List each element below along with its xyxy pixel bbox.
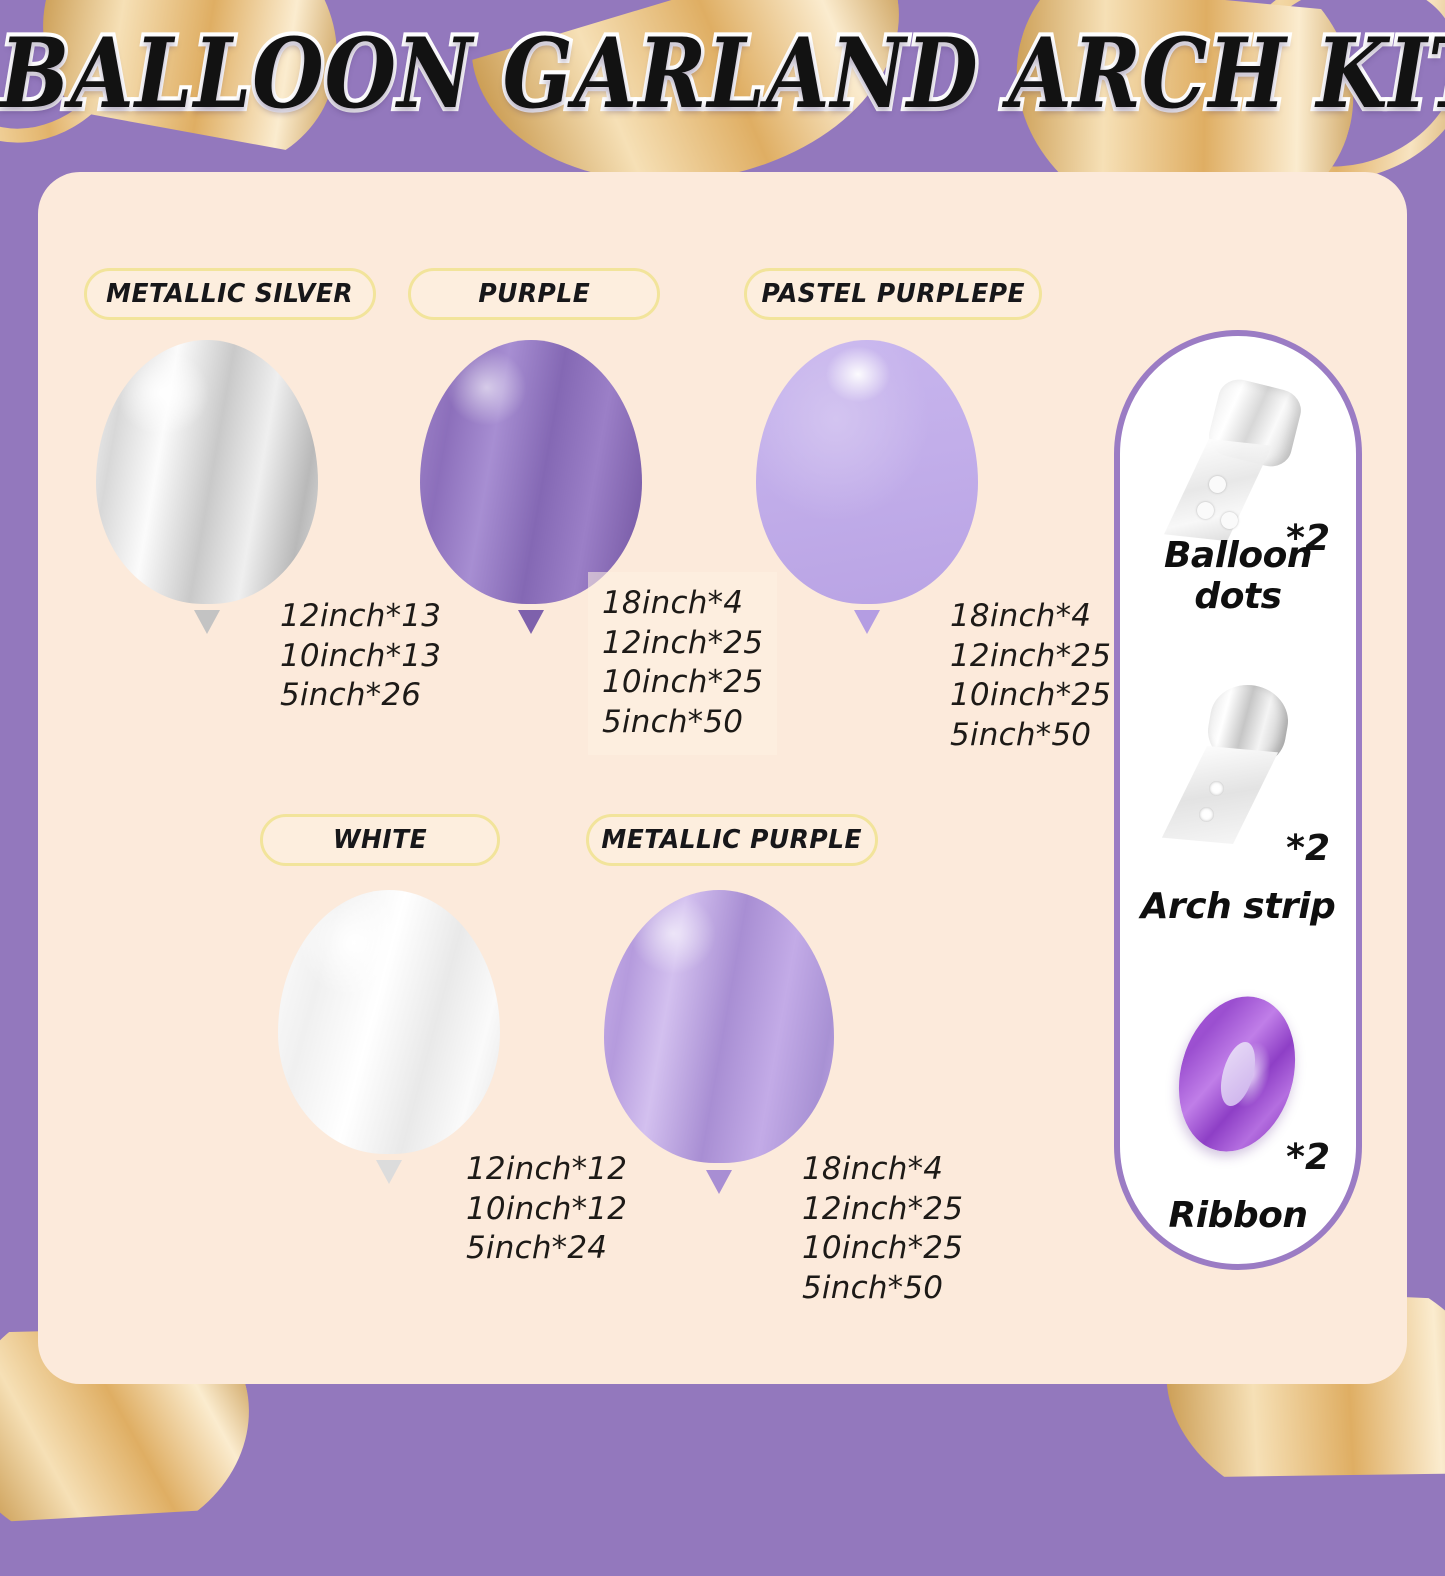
arch-strip-roll-icon <box>1179 685 1297 843</box>
badge-label: METALLIC PURPLE <box>602 825 863 855</box>
accessory-arch-strip: *2 Arch strip <box>1120 645 1356 954</box>
page-title-wrapper: BALLOON GARLAND ARCH KIT <box>0 26 1445 122</box>
balloon-knot <box>194 610 220 634</box>
badge-metallic-silver: METALLIC SILVER <box>84 268 376 320</box>
quantities-pastel-purple: 18inch*4 12inch*25 10inch*25 5inch*50 <box>950 597 1111 756</box>
balloon-knot <box>854 610 880 634</box>
balloon-body <box>96 340 318 604</box>
accessory-label: Balloon dots <box>1120 535 1356 617</box>
badge-label: PASTEL PURPLEPE <box>761 279 1025 309</box>
quantities-metallic-purple: 18inch*4 12inch*25 10inch*25 5inch*50 <box>802 1150 963 1309</box>
balloon-metallic-silver <box>96 340 318 640</box>
adhesive-dot-roll-icon <box>1179 384 1297 534</box>
badge-purple: PURPLE <box>408 268 660 320</box>
balloon-pastel-purple <box>756 340 978 640</box>
balloon-knot <box>518 610 544 634</box>
ribbon-spool-icon <box>1173 995 1303 1155</box>
badge-label: WHITE <box>333 825 427 855</box>
accessory-ribbon: *2 Ribbon <box>1120 955 1356 1264</box>
quantities-metallic-silver: 12inch*13 10inch*13 5inch*26 <box>280 597 441 716</box>
accessory-count: *2 <box>1286 1137 1330 1178</box>
quantities-white: 12inch*12 10inch*12 5inch*24 <box>466 1150 627 1269</box>
balloon-knot <box>376 1160 402 1184</box>
badge-label: METALLIC SILVER <box>107 279 354 309</box>
balloon-body <box>604 890 834 1163</box>
balloon-body <box>278 890 500 1154</box>
balloon-body <box>420 340 642 604</box>
badge-metallic-purple: METALLIC PURPLE <box>586 814 878 866</box>
accessories-panel: *2 Balloon dots *2 Arch strip *2 Ribbon <box>1114 330 1362 1270</box>
badge-label: PURPLE <box>478 279 590 309</box>
badge-pastel-purplepe: PASTEL PURPLEPE <box>744 268 1042 320</box>
balloon-body <box>756 340 978 604</box>
badge-white: WHITE <box>260 814 500 866</box>
balloon-metallic-purple <box>604 890 834 1200</box>
accessory-balloon-dots: *2 Balloon dots <box>1120 336 1356 645</box>
balloon-white <box>278 890 500 1190</box>
accessory-count: *2 <box>1286 828 1330 869</box>
accessory-label: Ribbon <box>1120 1195 1356 1236</box>
page-title: BALLOON GARLAND ARCH KIT <box>0 17 1445 130</box>
accessory-label: Arch strip <box>1120 886 1356 927</box>
balloon-knot <box>706 1170 732 1194</box>
quantities-purple: 18inch*4 12inch*25 10inch*25 5inch*50 <box>588 572 777 755</box>
